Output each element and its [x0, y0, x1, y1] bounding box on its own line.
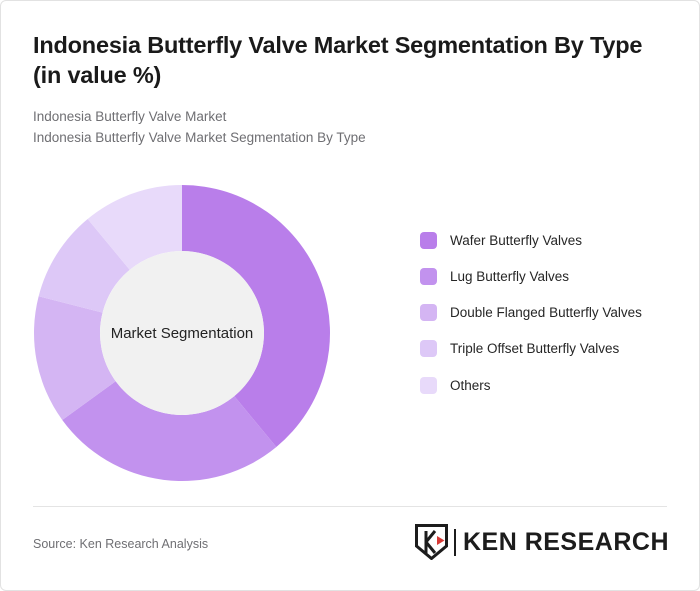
legend-label: Triple Offset Butterfly Valves	[450, 339, 619, 358]
footer-divider	[33, 506, 667, 507]
donut-hole	[100, 251, 264, 415]
brand-name: KEN RESEARCH	[463, 528, 669, 557]
subtitle-line-1: Indonesia Butterfly Valve Market	[33, 107, 643, 128]
legend-swatch	[420, 377, 437, 394]
legend-label: Wafer Butterfly Valves	[450, 231, 582, 250]
subtitle-line-2: Indonesia Butterfly Valve Market Segment…	[33, 128, 643, 149]
donut-chart: Market Segmentation	[32, 183, 332, 483]
legend-item[interactable]: Double Flanged Butterfly Valves	[420, 303, 670, 322]
ken-research-shield-icon	[415, 524, 448, 560]
donut-svg	[32, 183, 332, 483]
brand-divider	[454, 529, 456, 556]
legend-item[interactable]: Triple Offset Butterfly Valves	[420, 339, 670, 358]
legend-swatch	[420, 232, 437, 249]
legend-swatch	[420, 304, 437, 321]
chart-legend: Wafer Butterfly ValvesLug Butterfly Valv…	[420, 231, 670, 412]
legend-item[interactable]: Wafer Butterfly Valves	[420, 231, 670, 250]
legend-swatch	[420, 340, 437, 357]
legend-label: Lug Butterfly Valves	[450, 267, 569, 286]
legend-swatch	[420, 268, 437, 285]
page-title: Indonesia Butterfly Valve Market Segment…	[33, 30, 643, 90]
brand-accent-triangle	[437, 536, 445, 545]
source-note: Source: Ken Research Analysis	[33, 537, 208, 551]
legend-item[interactable]: Lug Butterfly Valves	[420, 267, 670, 286]
chart-header: Indonesia Butterfly Valve Market Segment…	[33, 30, 643, 148]
legend-label: Others	[450, 376, 491, 395]
brand-logo: KEN RESEARCH	[415, 524, 669, 560]
legend-label: Double Flanged Butterfly Valves	[450, 303, 642, 322]
legend-item[interactable]: Others	[420, 376, 670, 395]
subtitle-block: Indonesia Butterfly Valve Market Indones…	[33, 107, 643, 148]
chart-page: Indonesia Butterfly Valve Market Segment…	[0, 0, 700, 591]
